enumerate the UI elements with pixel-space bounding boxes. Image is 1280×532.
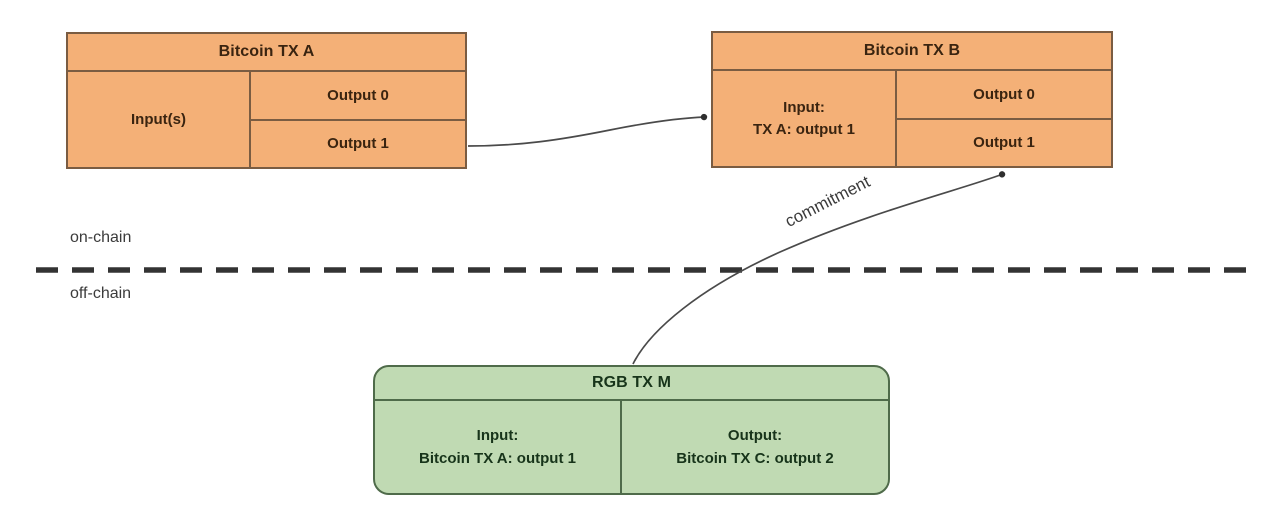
rgb-tx-m-output-cell: Output: Bitcoin TX C: output 2 [622,401,888,493]
rgb-tx-m-box: RGB TX M Input: Bitcoin TX A: output 1 O… [373,365,890,495]
bitcoin-tx-a-outputs: Output 0 Output 1 [251,72,465,167]
bitcoin-tx-b-inputs-cell: Input: TX A: output 1 [713,71,897,166]
bitcoin-tx-b-output-0: Output 0 [897,71,1111,118]
chain-divider-line [36,267,1251,273]
commitment-label: commitment [782,172,874,232]
bitcoin-tx-a-output-0: Output 0 [251,72,465,119]
rgb-tx-m-input-line-1: Input: [477,424,519,447]
rgb-tx-m-input-line-2: Bitcoin TX A: output 1 [419,447,576,470]
off-chain-label: off-chain [70,285,131,303]
bitcoin-tx-a-inputs-cell: Input(s) [68,72,251,167]
bitcoin-tx-a-box: Bitcoin TX A Input(s) Output 0 Output 1 [66,32,467,169]
on-off-chain-divider [36,267,1251,273]
bitcoin-tx-b-output-1: Output 1 [897,118,1111,167]
bitcoin-tx-b-input-line-2: TX A: output 1 [753,119,855,141]
diagram-canvas: Bitcoin TX A Input(s) Output 0 Output 1 … [0,0,1280,532]
bitcoin-tx-a-body: Input(s) Output 0 Output 1 [68,72,465,167]
rgb-tx-m-output-line-1: Output: [728,424,782,447]
spend-arrow-tx-a-to-tx-b [468,117,705,146]
bitcoin-tx-b-input-line-1: Input: [783,97,825,119]
rgb-tx-m-body: Input: Bitcoin TX A: output 1 Output: Bi… [375,401,888,493]
bitcoin-tx-a-header: Bitcoin TX A [68,34,465,72]
rgb-tx-m-input-cell: Input: Bitcoin TX A: output 1 [375,401,622,493]
bitcoin-tx-b-box: Bitcoin TX B Input: TX A: output 1 Outpu… [711,31,1113,168]
rgb-tx-m-header: RGB TX M [375,367,888,401]
bitcoin-tx-b-header: Bitcoin TX B [713,33,1111,71]
bitcoin-tx-a-input-label: Input(s) [131,109,186,131]
bitcoin-tx-a-output-1: Output 1 [251,119,465,168]
bitcoin-tx-b-body: Input: TX A: output 1 Output 0 Output 1 [713,71,1111,166]
on-chain-label: on-chain [70,229,131,247]
bitcoin-tx-b-outputs: Output 0 Output 1 [897,71,1111,166]
rgb-tx-m-output-line-2: Bitcoin TX C: output 2 [676,447,833,470]
